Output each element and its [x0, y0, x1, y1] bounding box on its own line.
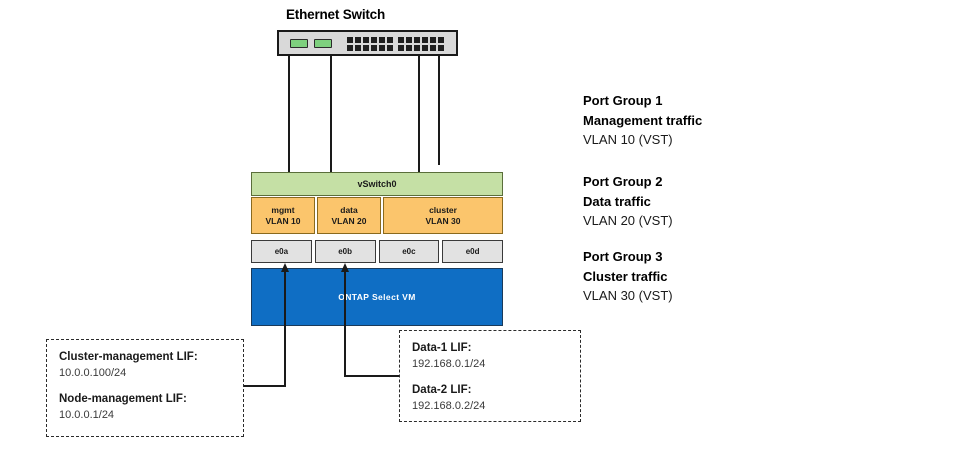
data-1-lif-title: Data-1 LIF:: [412, 341, 568, 357]
port-group-1-traffic: Management traffic: [583, 111, 702, 131]
vswitch0-label: vSwitch0: [357, 179, 396, 189]
data-lif-callout: Data-1 LIF: 192.168.0.1/24 Data-2 LIF: 1…: [399, 330, 581, 422]
node-management-lif-title: Node-management LIF:: [59, 392, 231, 408]
vlan-mgmt-id: VLAN 10: [266, 216, 301, 227]
ethernet-switch-title: Ethernet Switch: [286, 7, 385, 22]
switch-port-slot: [387, 45, 393, 51]
vlan-cluster-id: VLAN 30: [426, 216, 461, 227]
switch-port-slot: [414, 37, 420, 43]
switch-port-slot: [430, 45, 436, 51]
port-group-2-name: Port Group 2: [583, 172, 673, 192]
data-1-lif-entry: Data-1 LIF: 192.168.0.1/24: [412, 341, 568, 371]
switch-port-slot: [355, 45, 361, 51]
switch-port-slot: [347, 37, 353, 43]
ontap-select-vm-label: ONTAP Select VM: [338, 292, 415, 302]
port-group-3-traffic: Cluster traffic: [583, 267, 673, 287]
vswitch0-box: vSwitch0: [251, 172, 503, 196]
switch-port-slot: [430, 37, 436, 43]
switch-port-slot: [379, 45, 385, 51]
switch-port-slot: [355, 37, 361, 43]
nic-port-e0d-label: e0d: [466, 247, 480, 256]
node-management-lif-address: 10.0.0.1/24: [59, 408, 231, 423]
switch-port-block-1: [347, 37, 393, 51]
switch-uplink-cable-3: [418, 56, 420, 173]
diagram-canvas: Ethernet Switch: [0, 0, 975, 474]
switch-port-slot: [398, 37, 404, 43]
port-group-3-legend: Port Group 3 Cluster traffic VLAN 30 (VS…: [583, 247, 673, 306]
vlan-cluster-name: cluster: [429, 205, 457, 216]
ontap-select-vm-box: ONTAP Select VM: [251, 268, 503, 326]
cluster-management-lif-title: Cluster-management LIF:: [59, 350, 231, 366]
vlan-box-data: data VLAN 20: [317, 197, 381, 234]
nic-port-e0a: e0a: [251, 240, 312, 263]
node-management-lif-entry: Node-management LIF: 10.0.0.1/24: [59, 392, 231, 422]
cluster-management-lif-entry: Cluster-management LIF: 10.0.0.100/24: [59, 350, 231, 380]
switch-port-slot: [363, 45, 369, 51]
switch-port-slot: [363, 37, 369, 43]
switch-led-indicator-2: [314, 39, 332, 48]
switch-port-slot: [387, 37, 393, 43]
data-2-lif-address: 192.168.0.2/24: [412, 399, 568, 414]
ethernet-switch-chassis: [277, 30, 458, 56]
switch-port-slot: [347, 45, 353, 51]
port-group-2-traffic: Data traffic: [583, 192, 673, 212]
nic-port-e0c-label: e0c: [402, 247, 415, 256]
vlan-data-name: data: [340, 205, 357, 216]
management-lif-callout: Cluster-management LIF: 10.0.0.100/24 No…: [46, 339, 244, 437]
switch-port-slot: [371, 45, 377, 51]
switch-port-slot: [398, 45, 404, 51]
data-2-lif-title: Data-2 LIF:: [412, 383, 568, 399]
switch-port-slot: [422, 45, 428, 51]
data-2-lif-entry: Data-2 LIF: 192.168.0.2/24: [412, 383, 568, 413]
vlan-box-mgmt: mgmt VLAN 10: [251, 197, 315, 234]
data-1-lif-address: 192.168.0.1/24: [412, 357, 568, 372]
nic-port-e0a-label: e0a: [275, 247, 288, 256]
switch-uplink-cable-2: [330, 56, 332, 173]
nic-port-e0b: e0b: [315, 240, 376, 263]
port-group-1-legend: Port Group 1 Management traffic VLAN 10 …: [583, 91, 702, 150]
port-group-2-legend: Port Group 2 Data traffic VLAN 20 (VST): [583, 172, 673, 231]
switch-led-indicator-1: [290, 39, 308, 48]
switch-port-slot: [406, 45, 412, 51]
switch-uplink-cable-4: [438, 56, 440, 165]
switch-port-slot: [371, 37, 377, 43]
switch-port-slot: [438, 45, 444, 51]
vlan-mgmt-name: mgmt: [271, 205, 294, 216]
vlan-data-id: VLAN 20: [332, 216, 367, 227]
port-group-1-name: Port Group 1: [583, 91, 702, 111]
nic-port-row: e0a e0b e0c e0d: [251, 240, 503, 263]
switch-uplink-cable-1: [288, 56, 290, 173]
port-group-1-vlan: VLAN 10 (VST): [583, 130, 702, 150]
cluster-management-lif-address: 10.0.0.100/24: [59, 366, 231, 381]
vlan-box-cluster: cluster VLAN 30: [383, 197, 503, 234]
nic-port-e0c: e0c: [379, 240, 440, 263]
switch-port-slot: [379, 37, 385, 43]
switch-port-block-2: [398, 37, 444, 51]
switch-port-slot: [438, 37, 444, 43]
switch-port-slot: [406, 37, 412, 43]
port-group-3-vlan: VLAN 30 (VST): [583, 286, 673, 306]
switch-port-slot: [414, 45, 420, 51]
port-group-2-vlan: VLAN 20 (VST): [583, 211, 673, 231]
switch-port-slot: [422, 37, 428, 43]
port-group-3-name: Port Group 3: [583, 247, 673, 267]
nic-port-e0d: e0d: [442, 240, 503, 263]
vlan-port-group-row: mgmt VLAN 10 data VLAN 20 cluster VLAN 3…: [251, 197, 503, 234]
nic-port-e0b-label: e0b: [338, 247, 352, 256]
